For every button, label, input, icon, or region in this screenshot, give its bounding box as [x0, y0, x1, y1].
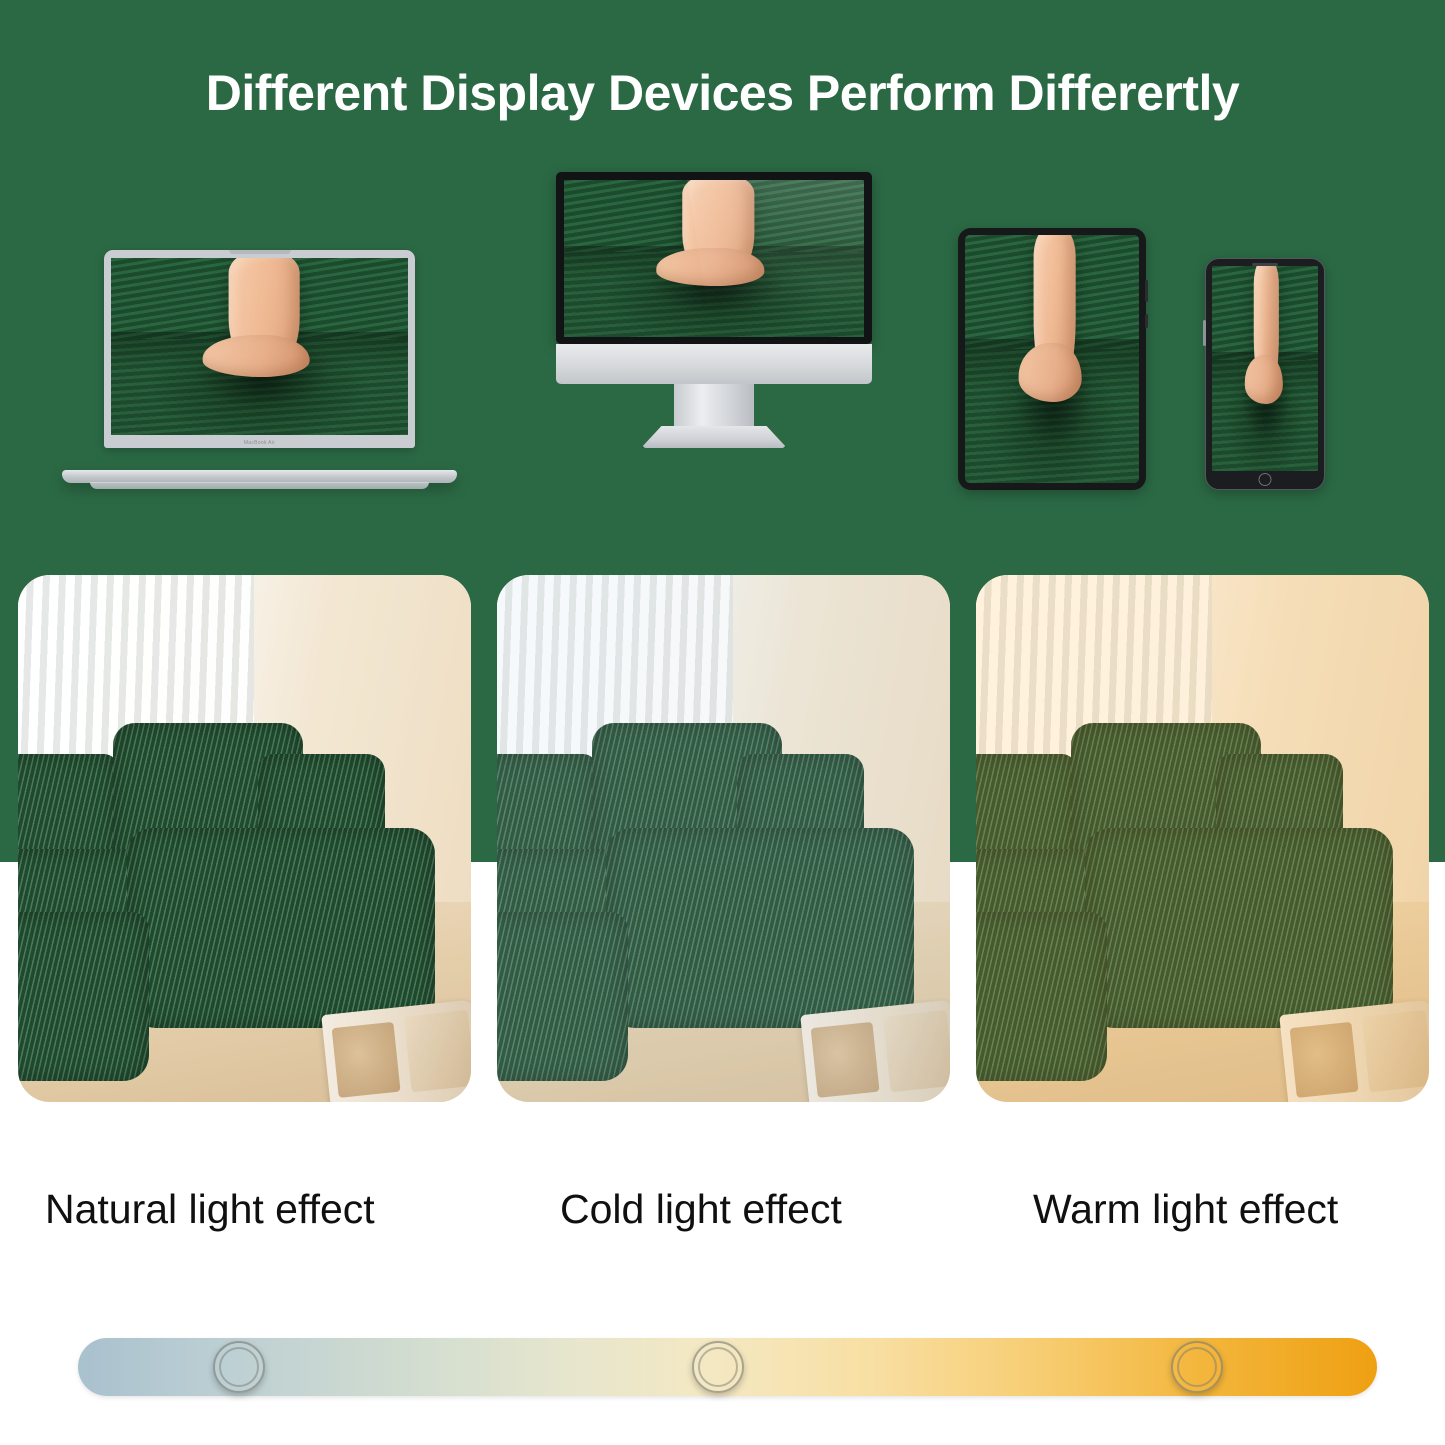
- caption-cold-light: Cold light effect: [560, 1186, 842, 1233]
- screen-photo-sofa: [965, 235, 1139, 483]
- foot-image: [1254, 266, 1279, 401]
- sofa-seat-front: [18, 912, 149, 1081]
- phone-volume-button[interactable]: [1203, 320, 1206, 346]
- foot-image: [228, 258, 299, 375]
- device-desktop-monitor: [528, 172, 900, 497]
- screen-photo-sofa: [111, 258, 408, 435]
- laptop-camera-notch: [229, 250, 291, 254]
- sofa-seat-front: [497, 912, 628, 1081]
- phone-screen: [1212, 266, 1318, 471]
- foot-image: [682, 180, 754, 284]
- slider-handle-cold[interactable]: [692, 1341, 744, 1393]
- sofa-armrest-block: [606, 828, 914, 1028]
- magazine-on-floor: [1279, 999, 1429, 1102]
- comparison-panel-cold: [497, 575, 950, 1102]
- page-title: Different Display Devices Perform Differ…: [0, 64, 1445, 122]
- sofa-armrest-block: [1085, 828, 1393, 1028]
- phone-bezel: [1205, 258, 1325, 490]
- laptop-lid: MacBook Air: [104, 250, 415, 448]
- tablet-power-button[interactable]: [1145, 314, 1148, 328]
- monitor-screen: [564, 180, 864, 337]
- laptop-brand-label: MacBook Air: [104, 440, 415, 446]
- magazine-on-floor: [800, 999, 950, 1102]
- laptop-screen: [111, 258, 408, 435]
- screen-photo-sofa: [564, 180, 864, 337]
- color-temperature-slider[interactable]: [78, 1338, 1377, 1396]
- room-scene: [497, 575, 950, 1102]
- laptop-foot-shadow: [90, 482, 429, 489]
- monitor-stand-base: [641, 426, 787, 448]
- comparison-panel-warm: [976, 575, 1429, 1102]
- device-smartphone: [1205, 258, 1325, 490]
- caption-warm-light: Warm light effect: [1033, 1186, 1338, 1233]
- device-tablet: [958, 228, 1146, 490]
- tablet-volume-button[interactable]: [1145, 280, 1148, 302]
- screen-photo-sofa: [1212, 266, 1318, 471]
- room-scene: [18, 575, 471, 1102]
- monitor-chin: [556, 344, 872, 384]
- tablet-bezel: [958, 228, 1146, 490]
- monitor-bezel: [556, 172, 872, 344]
- monitor-stand-neck: [674, 384, 754, 426]
- sofa-armrest-block: [127, 828, 435, 1028]
- slider-handle-natural[interactable]: [213, 1341, 265, 1393]
- tablet-screen: [965, 235, 1139, 483]
- home-circle-icon[interactable]: [1259, 473, 1272, 486]
- slider-handle-warm[interactable]: [1171, 1341, 1223, 1393]
- room-scene: [976, 575, 1429, 1102]
- device-laptop: MacBook Air: [62, 250, 457, 495]
- caption-natural-light: Natural light effect: [45, 1186, 375, 1233]
- sofa-seat-front: [976, 912, 1107, 1081]
- foot-image: [1034, 235, 1076, 399]
- magazine-on-floor: [321, 999, 471, 1102]
- comparison-panel-natural: [18, 575, 471, 1102]
